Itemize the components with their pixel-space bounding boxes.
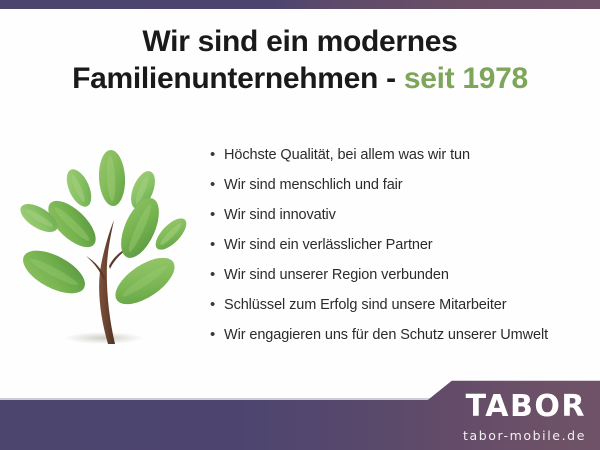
slide-canvas: Wir sind ein modernes Familienunternehme… [0,0,600,450]
bullet-icon: • [210,170,224,200]
list-item-label: Höchste Qualität, bei allem was wir tun [224,140,470,170]
bullet-icon: • [210,140,224,170]
headline-accent: seit 1978 [404,62,528,95]
list-item-label: Schlüssel zum Erfolg sind unsere Mitarbe… [224,290,507,320]
page-title: Wir sind ein modernes Familienunternehme… [0,24,600,97]
list-item-label: Wir sind menschlich und fair [224,170,403,200]
list-item-label: Wir sind ein verlässlicher Partner [224,230,433,260]
list-item-label: Wir sind innovativ [224,200,336,230]
list-item: • Wir sind menschlich und fair [210,170,590,200]
tree-shadow [64,332,144,344]
headline-line-2: Familienunternehmen - seit 1978 [0,61,600,98]
bullet-icon: • [210,230,224,260]
bullet-icon: • [210,290,224,320]
list-item: • Wir sind unserer Region verbunden [210,260,590,290]
bullet-icon: • [210,320,224,350]
list-item: • Wir sind innovativ [210,200,590,230]
top-accent-bar [0,0,600,9]
tree-illustration [12,148,187,353]
headline-line-2-main: Familienunternehmen - [72,62,404,95]
list-item: • Wir sind ein verlässlicher Partner [210,230,590,260]
tree-trunk [99,220,115,344]
benefits-list: • Höchste Qualität, bei allem was wir tu… [210,140,590,350]
list-item-label: Wir sind unserer Region verbunden [224,260,449,290]
list-item: • Wir engagieren uns für den Schutz unse… [210,320,590,350]
list-item-label: Wir engagieren uns für den Schutz unsere… [224,320,548,350]
brand-wordmark: TABOR [416,392,586,422]
bullet-icon: • [210,200,224,230]
brand-logo: TABOR tabor-mobile.de [416,392,586,443]
footer-banner: TABOR tabor-mobile.de [0,378,600,450]
brand-website-url: tabor-mobile.de [416,430,586,443]
list-item: • Höchste Qualität, bei allem was wir tu… [210,140,590,170]
list-item: • Schlüssel zum Erfolg sind unsere Mitar… [210,290,590,320]
headline-line-1: Wir sind ein modernes [0,24,600,61]
bullet-icon: • [210,260,224,290]
